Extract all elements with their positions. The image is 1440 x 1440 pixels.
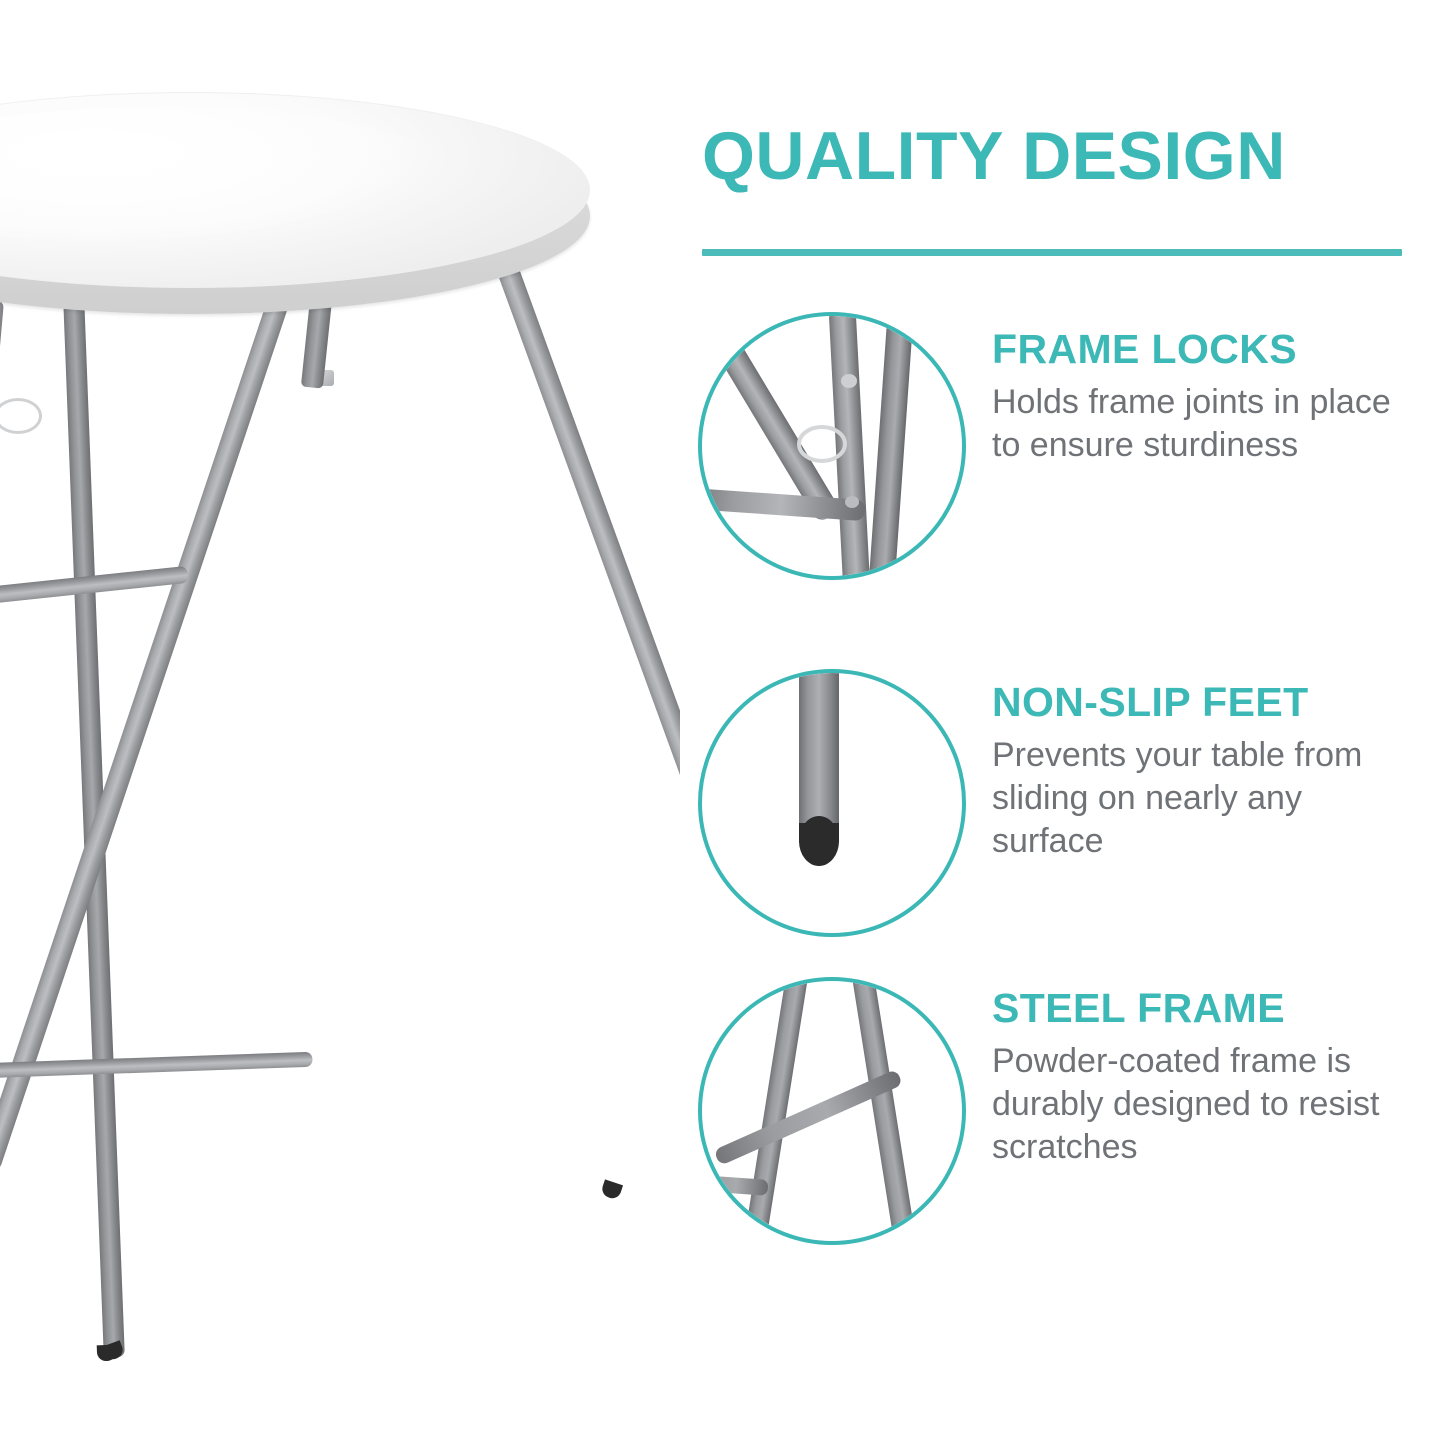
feature-non-slip-feet-text: NON-SLIP FEET Prevents your table from s… [992,681,1422,863]
non-slip-foot-photo-clip [702,673,962,933]
feature-steel-frame-text: STEEL FRAME Powder-coated frame is durab… [992,987,1422,1169]
crossbar-lower [0,1052,313,1079]
table-leg-front-right [495,258,680,1313]
non-slip-foot-illustration [702,673,962,933]
frame-lock-ring [0,398,42,434]
feature-title: FRAME LOCKS [992,328,1422,371]
steel-frame-illustration [702,981,962,1241]
feature-body: Prevents your table from sliding on near… [992,734,1422,862]
feature-body: Holds frame joints in place to ensure st… [992,381,1422,467]
steel-frame-photo-clip [702,981,962,1241]
table-top-highlight [0,107,469,257]
page-title: QUALITY DESIGN [702,122,1286,190]
frame-lock-photo-clip [702,316,962,576]
feature-body: Powder-coated frame is durably designed … [992,1040,1422,1168]
product-photo [0,0,680,1440]
non-slip-foot-photo-icon [698,669,966,937]
table-leg-front-left [0,273,297,1171]
infographic-page: QUALITY DESIGN [0,0,1440,1440]
frame-lock-photo-icon [698,312,966,580]
feature-frame-locks-text: FRAME LOCKS Holds frame joints in place … [992,328,1422,467]
foot-cap-front-left [600,1179,623,1200]
steel-frame-photo-icon [698,977,966,1245]
table-top [0,92,590,322]
feature-title: NON-SLIP FEET [992,681,1422,724]
info-panel: QUALITY DESIGN [680,0,1440,1440]
title-divider [702,249,1402,256]
frame-lock-illustration [702,316,962,576]
feature-title: STEEL FRAME [992,987,1422,1030]
